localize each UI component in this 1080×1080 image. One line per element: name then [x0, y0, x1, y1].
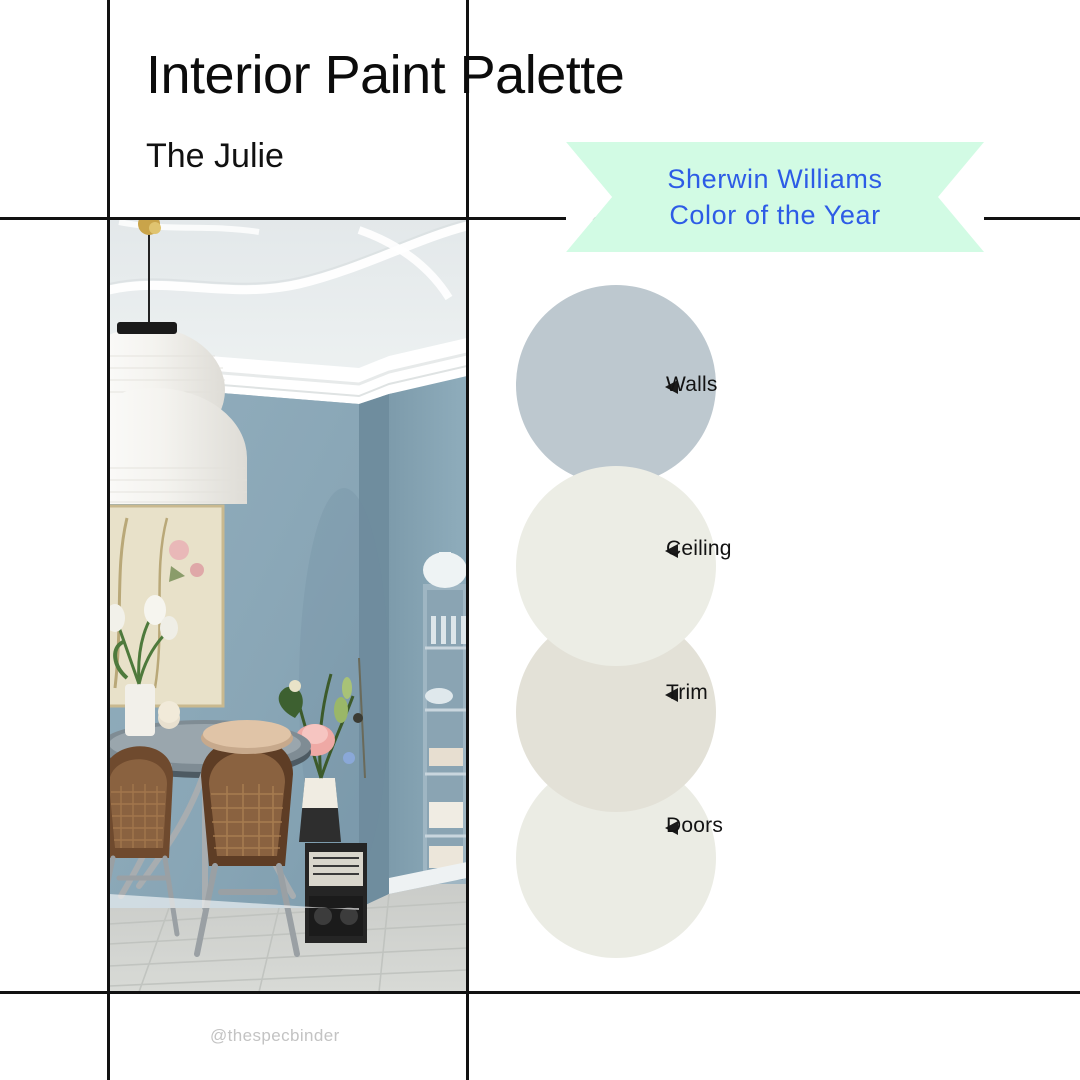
- swatch-label-trim: Trim: [666, 681, 708, 705]
- swatch-label-walls: Walls: [666, 373, 718, 397]
- palette-card: Interior Paint Palette The Julie Sherwin…: [0, 0, 1080, 1080]
- watermark-handle: @thespecbinder: [210, 1026, 340, 1046]
- ribbon-banner-shape: [566, 142, 984, 252]
- swatch-label-ceiling: Ceiling: [666, 537, 732, 561]
- room-photo: [109, 218, 467, 992]
- gridline-vertical-left: [107, 0, 110, 1080]
- callout-trim: Trim: [666, 683, 826, 707]
- swatch-ceiling[interactable]: [516, 466, 716, 666]
- page-subtitle: The Julie: [146, 138, 284, 175]
- callout-doors: Doors: [666, 816, 826, 840]
- callout-walls: Walls: [666, 375, 826, 399]
- callout-ceiling: Ceiling: [666, 539, 826, 563]
- gridline-horizontal-bottom: [0, 991, 1080, 994]
- room-photo-illustration: [109, 218, 467, 992]
- swatch-label-doors: Doors: [666, 814, 723, 838]
- page-title: Interior Paint Palette: [146, 47, 624, 104]
- gridline-vertical-right: [466, 0, 469, 1080]
